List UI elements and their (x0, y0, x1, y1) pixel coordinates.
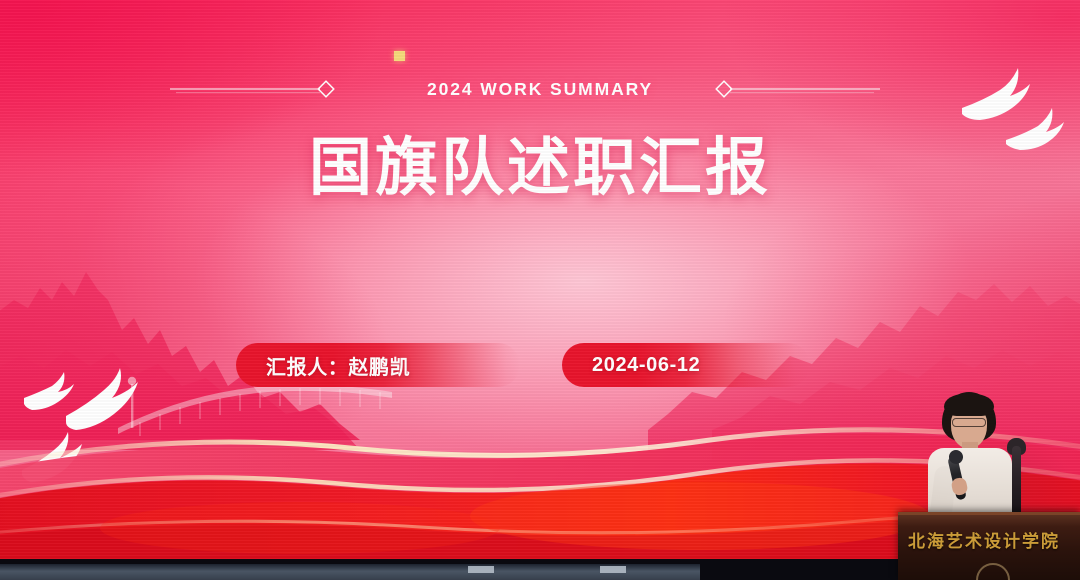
bezel-marker-left (468, 566, 494, 573)
bezel-marker-right (600, 566, 626, 573)
podium-emblem (976, 563, 1010, 580)
speaker-glasses (952, 418, 986, 427)
speaker-person (916, 392, 1026, 527)
photo-of-auditorium-stage: 2024 WORK SUMMARY 国旗队述职汇报 汇报人：赵鹏凯 2024-0… (0, 0, 1080, 580)
speaker-fringe (944, 394, 994, 416)
podium-inscription: 北海艺术设计学院 (908, 527, 1060, 552)
podium: 北海艺术设计学院 (898, 512, 1080, 580)
screen-bezel-strip (0, 564, 700, 580)
